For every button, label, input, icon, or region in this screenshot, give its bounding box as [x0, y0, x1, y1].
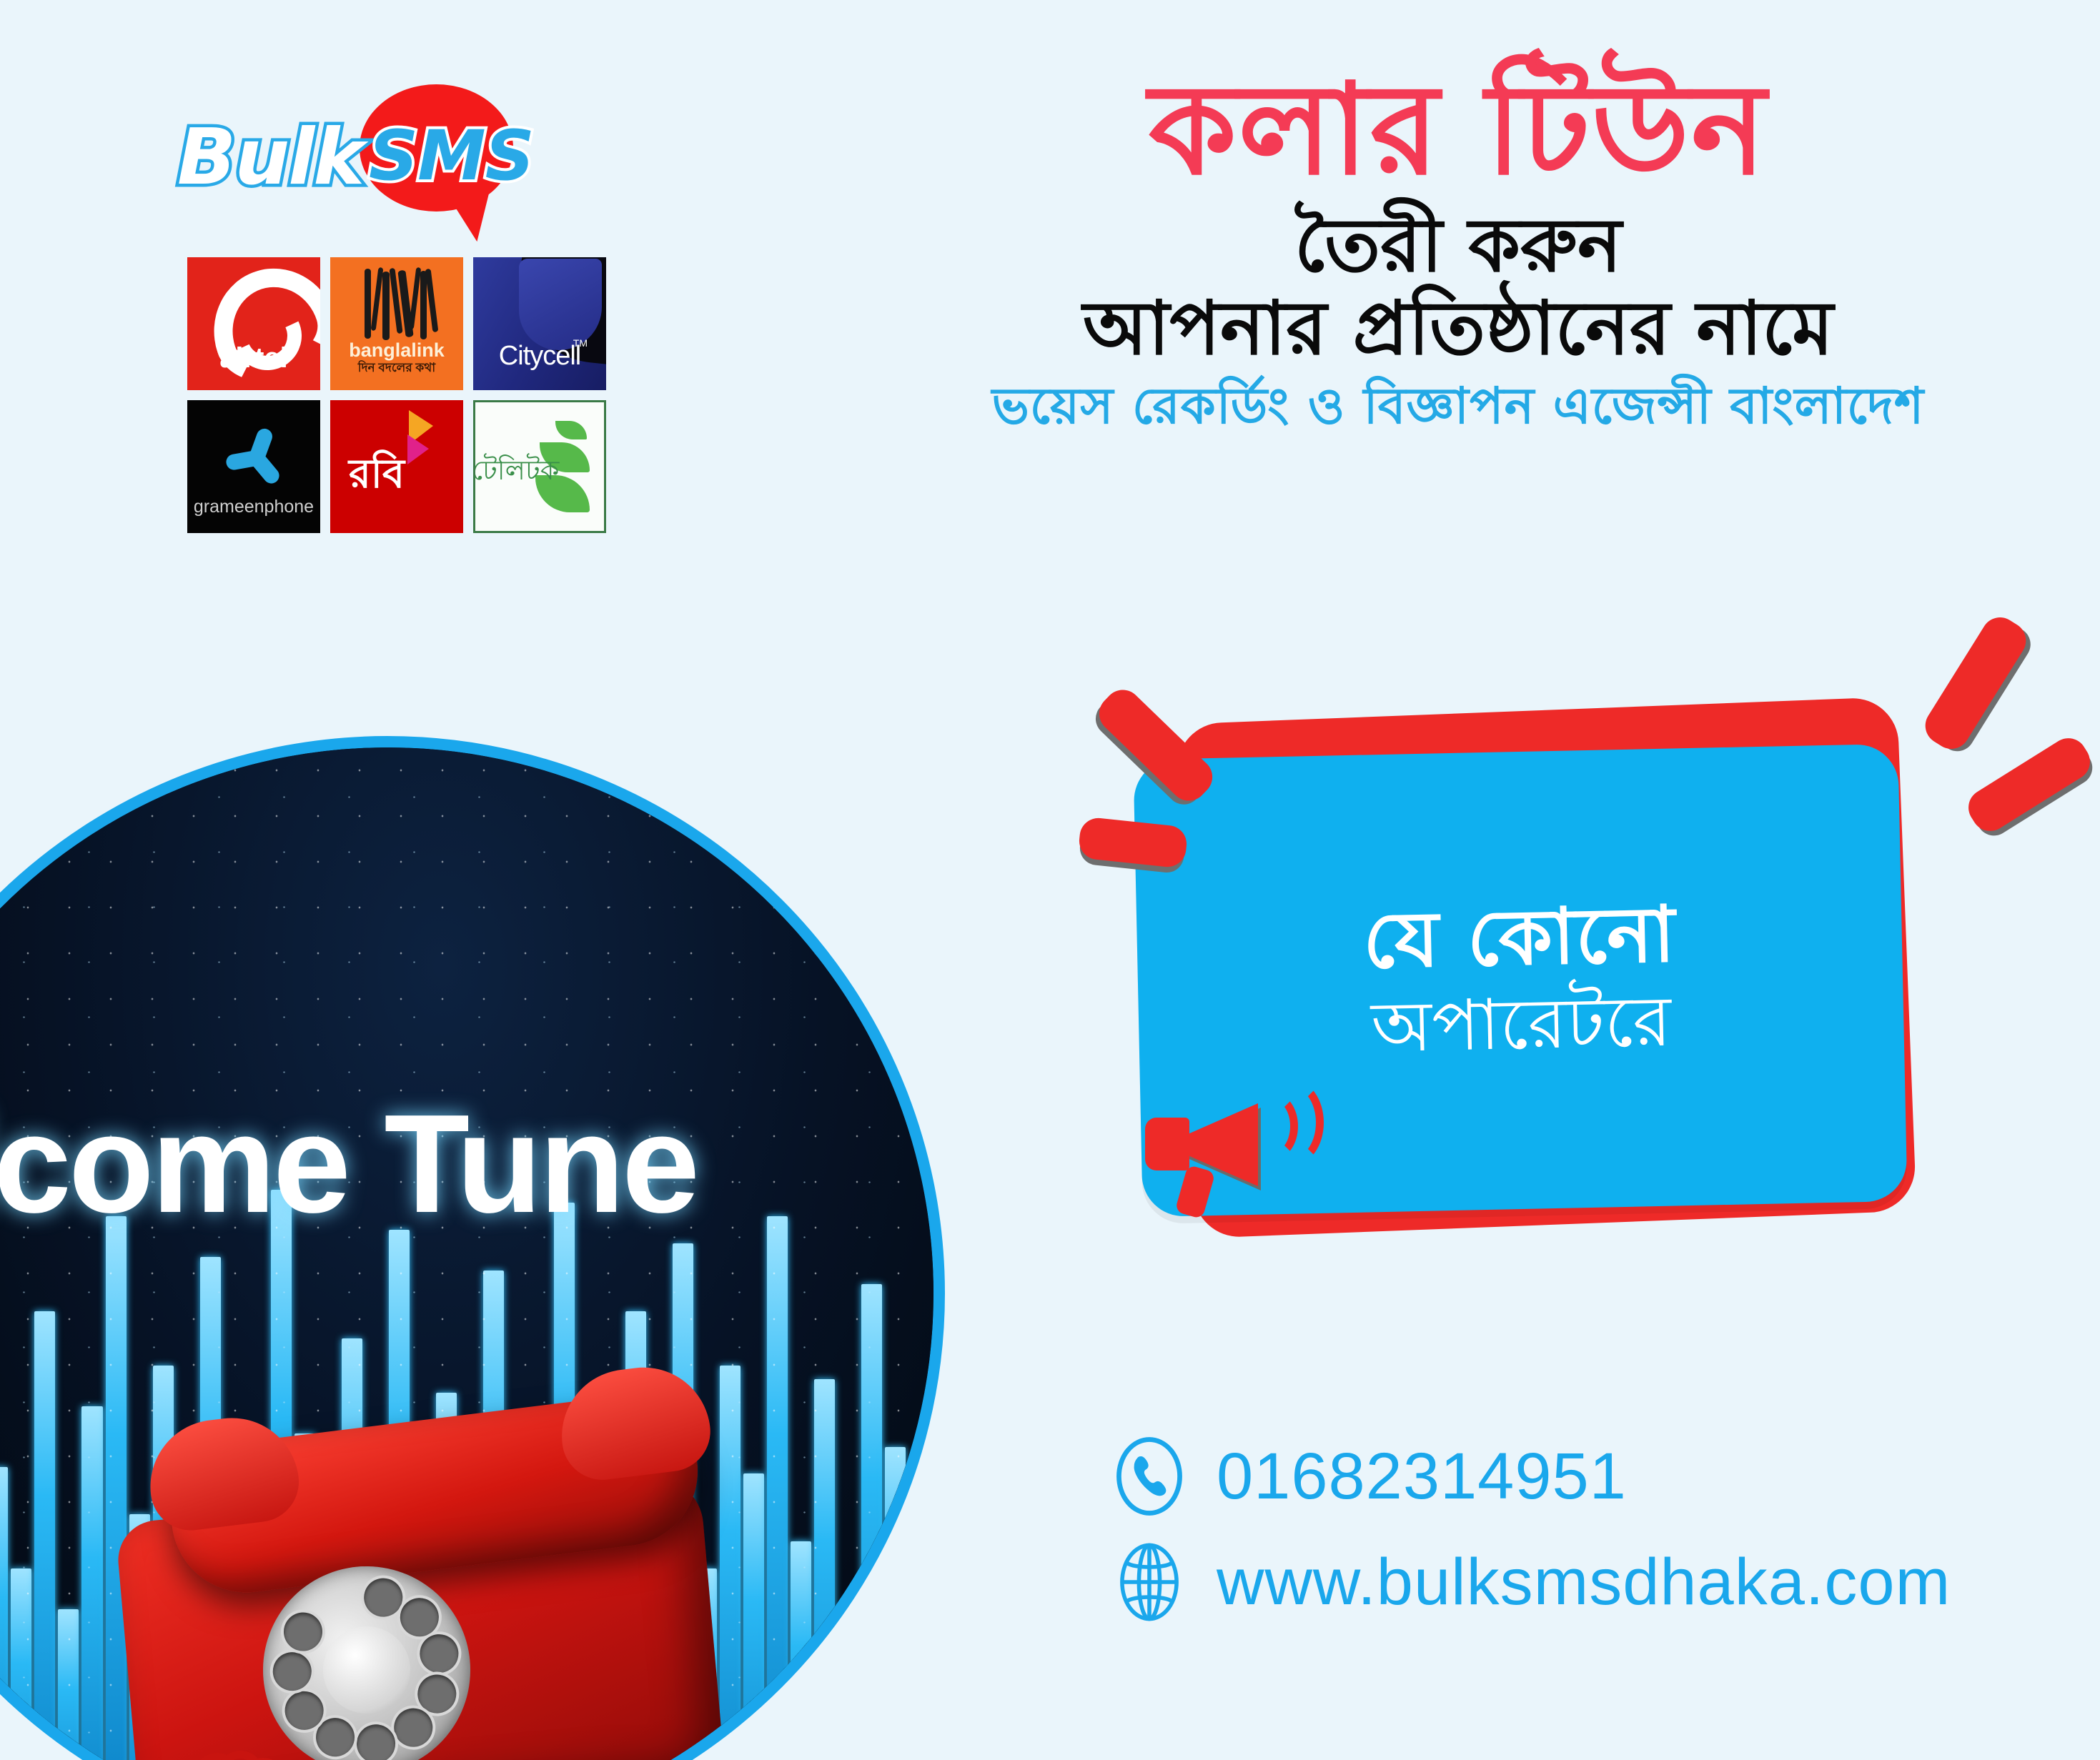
dial-hole [418, 1632, 460, 1674]
rotary-telephone-image [84, 1391, 813, 1760]
phone-icon [1109, 1436, 1189, 1516]
photo-caption: Welcome Tune [0, 1083, 828, 1244]
operator-logo-citycell: TM Citycell [473, 257, 606, 390]
contact-website-row[interactable]: www.bulksmsdhaka.com [1109, 1542, 2067, 1622]
headline-tagline: ভয়েস রেকর্ডিং ও বিজ্ঞাপন এজেন্সী বাংলাদ… [843, 376, 2073, 436]
contact-phone-row[interactable]: 01682314951 [1109, 1436, 2067, 1516]
headline-subtitle-2: আপনার প্রতিষ্ঠানের নামে [843, 287, 2073, 369]
operator-name-teletalk: টেলিটক [473, 449, 580, 495]
dial-hole [282, 1611, 325, 1653]
headline-subtitle-1: তৈরী করুন [843, 204, 2073, 287]
operator-logo-airtel: airtel [187, 257, 320, 390]
citycell-panel-icon [519, 259, 602, 350]
brand-word-sms: SMS [369, 116, 534, 196]
dial-hole [284, 1689, 326, 1731]
burst-line-top-right [1918, 610, 2033, 756]
callout-line-1: যে কোনো [1362, 893, 1677, 985]
brand-word-bulk: Bulk [177, 113, 363, 202]
operator-name-grameenphone: grameenphone [187, 497, 320, 517]
dial-hole [392, 1707, 435, 1749]
speech-bubble-tail-icon [448, 188, 500, 246]
dial-hole [416, 1674, 458, 1716]
contact-block: 01682314951 www.bulksmsdhaka.com [1109, 1436, 2067, 1648]
operator-logo-grameenphone: grameenphone [187, 400, 320, 533]
page-title: কলার টিউন [843, 64, 2073, 197]
dial-hole [362, 1576, 405, 1619]
operator-logo-robi: রবি [330, 400, 463, 533]
burst-line-right [1961, 731, 2097, 837]
callout-line-2: অপারেটরে [1370, 982, 1672, 1068]
operator-logo-banglalink: banglalink দিন বদলের কথা [330, 257, 463, 390]
photo-background: Welcome Tune [0, 747, 933, 1760]
globe-icon [1109, 1542, 1189, 1622]
operator-name-citycell: Citycell [473, 341, 606, 372]
telephone-cord [56, 1726, 356, 1760]
dial-hole [355, 1723, 397, 1760]
operator-tagline-banglalink: দিন বদলের কথা [330, 359, 463, 379]
welcome-tune-photo: Welcome Tune [0, 736, 945, 1760]
dial-hole [272, 1651, 314, 1693]
headline-block: কলার টিউন তৈরী করুন আপনার প্রতিষ্ঠানের ন… [843, 64, 2073, 436]
grameenphone-propeller-icon [224, 424, 286, 486]
megaphone-icon [1157, 1078, 1321, 1228]
website-url: www.bulksmsdhaka.com [1217, 1545, 1951, 1620]
operator-name-airtel: airtel [187, 342, 320, 374]
operator-name-robi: রবি [330, 443, 443, 510]
phone-number: 01682314951 [1217, 1439, 1627, 1514]
bulk-sms-logo: Bulk SMS [177, 84, 513, 238]
operator-callout-box: যে কোনো অপারেটরে [1101, 686, 2030, 1251]
banglalink-tiger-stripes-icon [362, 267, 436, 342]
operator-logo-grid: airtel banglalink দিন বদলের কথা TM Cityc… [187, 257, 606, 533]
poster-canvas: Bulk SMS airtel banglalink দিন বদলের কথা… [0, 0, 2100, 1760]
dial-hole [398, 1596, 440, 1639]
operator-logo-teletalk: টেলিটক [473, 400, 606, 533]
